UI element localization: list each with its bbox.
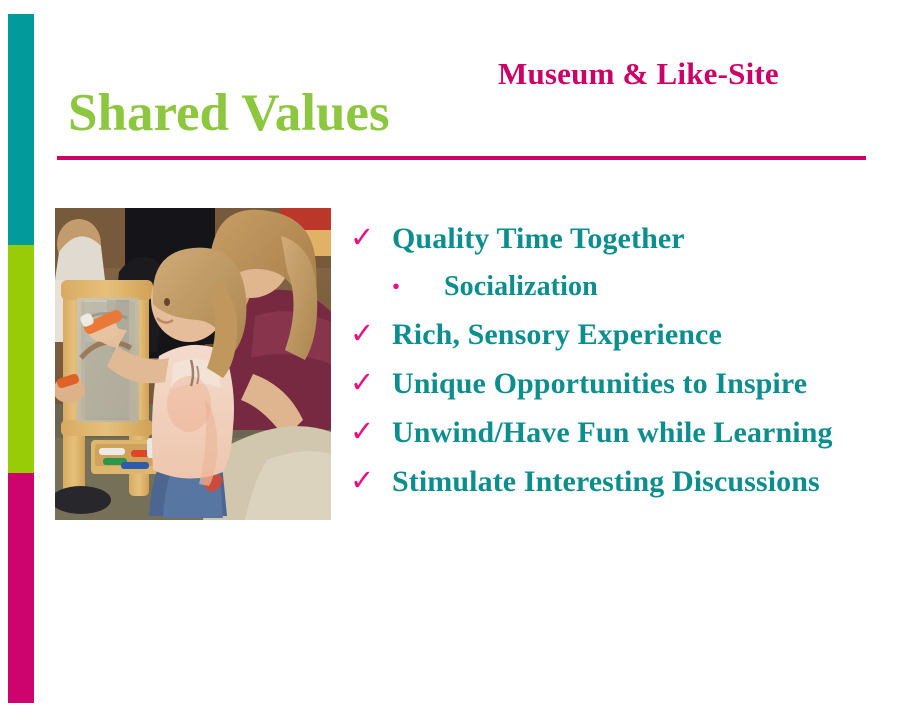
list-item: ✓ Stimulate Interesting Discussions (348, 458, 878, 505)
slide-kicker: Museum & Like-Site (498, 58, 878, 91)
list-item-label: Quality Time Together (392, 215, 878, 262)
list-item-label: Stimulate Interesting Discussions (392, 458, 878, 505)
accent-segment-green (8, 245, 34, 473)
list-item: ✓ Unique Opportunities to Inspire (348, 360, 878, 407)
dot-bullet-icon: • (348, 264, 444, 309)
list-item-label: Unique Opportunities to Inspire (392, 360, 878, 407)
left-accent-bar (8, 14, 34, 703)
photo-illustration (55, 208, 331, 520)
slide: Museum & Like-Site Shared Values (0, 0, 917, 717)
list-item-label: Rich, Sensory Experience (392, 311, 878, 358)
list-item: ✓ Quality Time Together (348, 215, 878, 262)
checkmark-icon: ✓ (348, 458, 392, 505)
checkmark-icon: ✓ (348, 311, 392, 358)
list-item: ✓ Unwind/Have Fun while Learning (348, 409, 878, 456)
accent-segment-teal (8, 14, 34, 245)
list-item-label: Unwind/Have Fun while Learning (392, 409, 878, 456)
list-item: • Socialization (348, 264, 878, 309)
accent-segment-magenta (8, 473, 34, 703)
checkmark-icon: ✓ (348, 360, 392, 407)
list-item-label: Socialization (444, 264, 878, 309)
checkmark-icon: ✓ (348, 409, 392, 456)
title-divider (57, 156, 866, 160)
list-item: ✓ Rich, Sensory Experience (348, 311, 878, 358)
bullet-list: ✓ Quality Time Together • Socialization … (348, 215, 878, 507)
slide-photo (55, 208, 331, 520)
page-title: Shared Values (68, 86, 390, 142)
checkmark-icon: ✓ (348, 215, 392, 262)
